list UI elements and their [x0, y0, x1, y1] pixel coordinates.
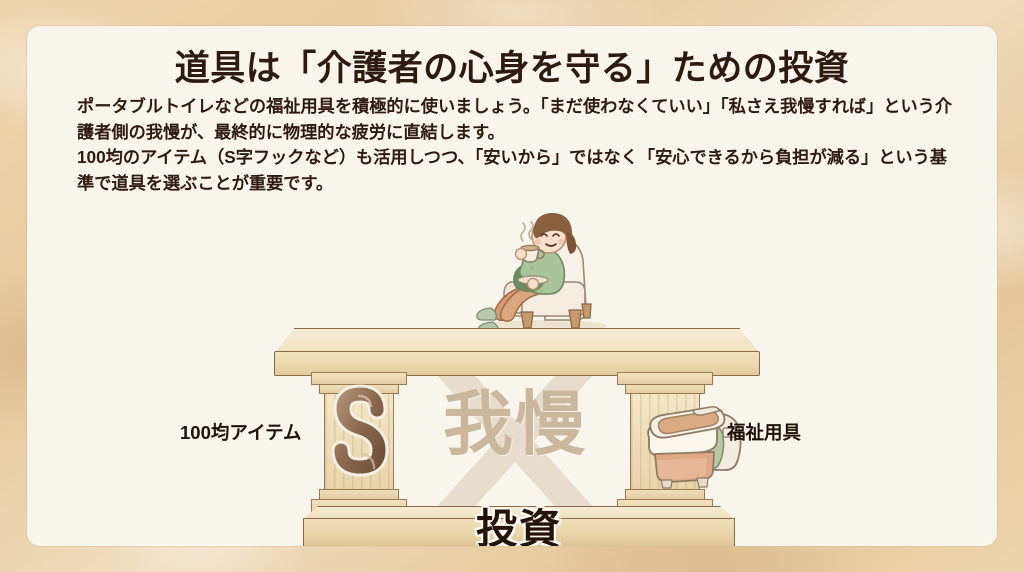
investment-label: 投資 [303, 509, 735, 546]
slide: 道具は「介護者の心身を守る」ための投資 ポータブルトイレなどの福祉用具を積極的に… [0, 0, 1024, 572]
s-hook-icon [315, 376, 405, 512]
left-column-label: 100均アイテム [180, 419, 302, 445]
table-top [274, 328, 760, 376]
person-armchair-svg [449, 208, 629, 334]
watermark-gaman-label: 我慢 [425, 389, 605, 459]
person-relaxing-icon [449, 208, 629, 334]
s-hook-svg [315, 376, 405, 512]
slide-card: 道具は「介護者の心身を守る」ための投資 ポータブルトイレなどの福祉用具を積極的に… [27, 26, 997, 546]
body-paragraph-1: ポータブルトイレなどの福祉用具を積極的に使いましょう。「まだ使わなくていい」「私… [77, 94, 961, 145]
illustration-stage: 我慢 [27, 176, 997, 546]
page-title: 道具は「介護者の心身を守る」ための投資 [27, 40, 997, 91]
steam-icon [521, 222, 533, 241]
right-column-label: 福祉用具 [727, 419, 801, 445]
